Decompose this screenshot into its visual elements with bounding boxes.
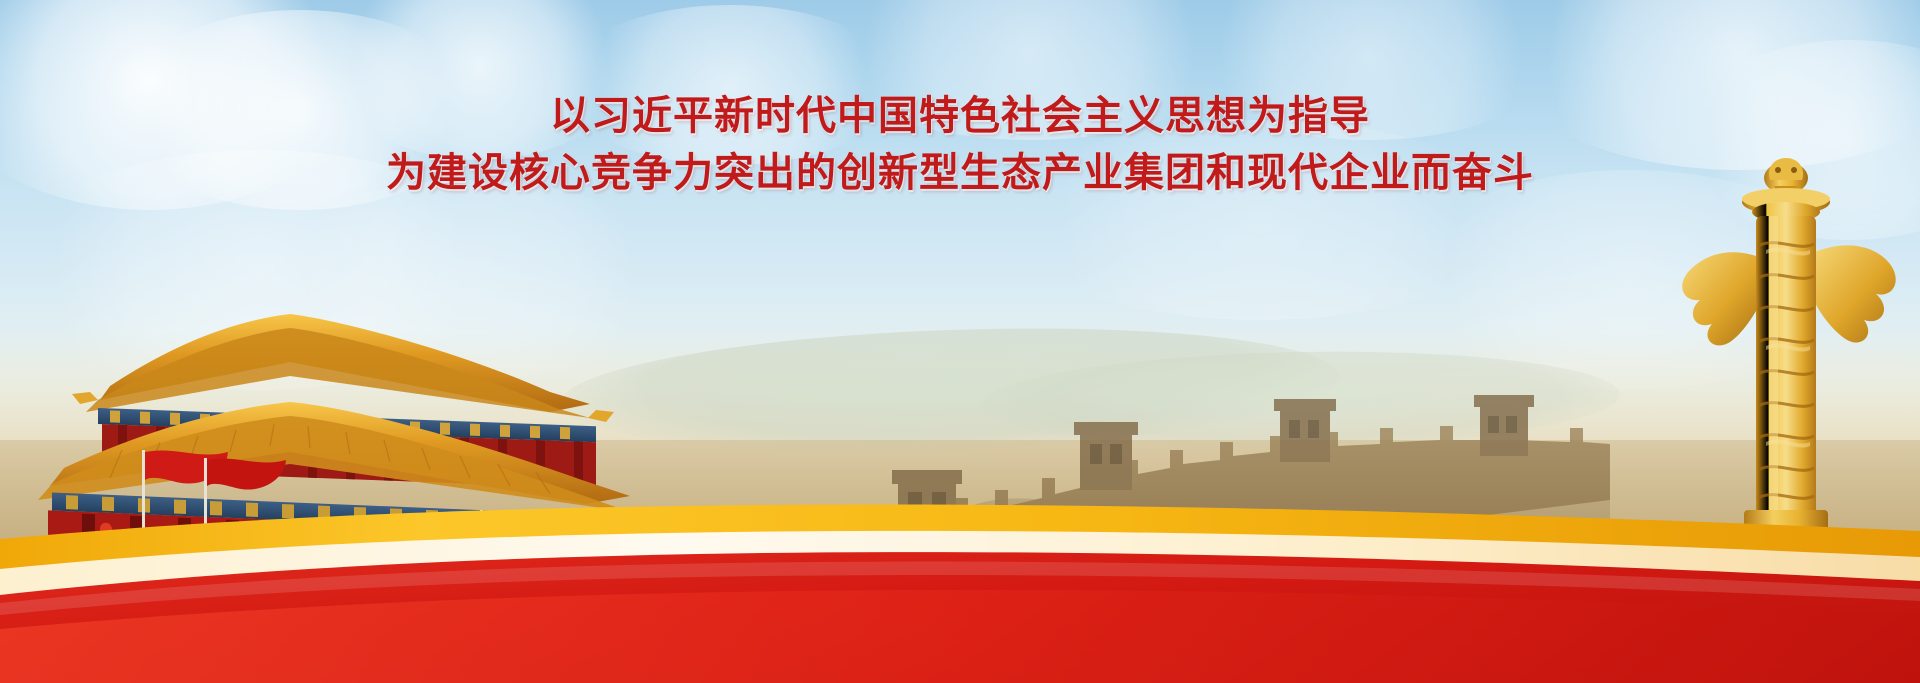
cloud-board-right [1810,245,1896,342]
banner-root: 中华 人民 共和 国万 岁 世界 人民 大团 结万 岁 [0,0,1920,683]
bottom-ribbon [0,483,1920,683]
cloud-board-left [1682,252,1762,345]
